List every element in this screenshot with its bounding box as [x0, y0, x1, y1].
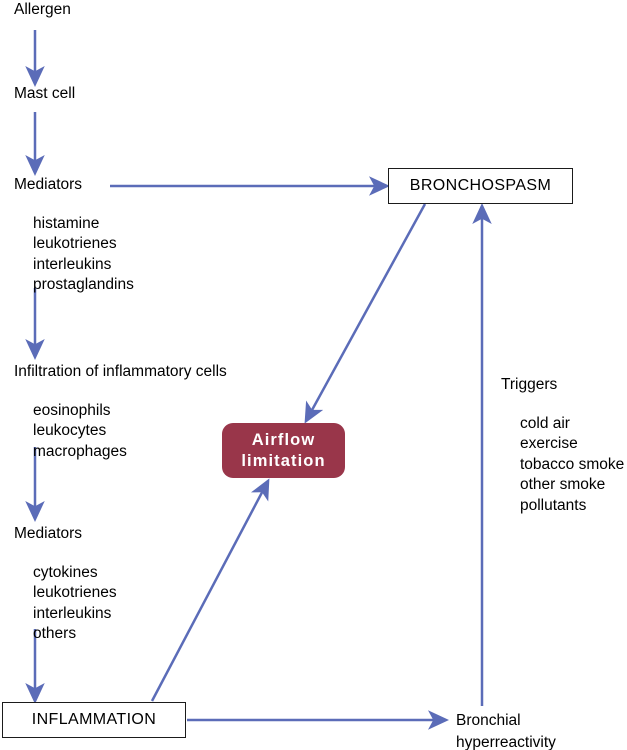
node-inflammation-label: INFLAMMATION — [32, 711, 157, 729]
node-mediators-early-label: Mediators — [14, 177, 134, 193]
node-triggers: Triggers cold air exercise tobacco smoke… — [501, 377, 624, 516]
node-triggers-label: Triggers — [501, 377, 624, 393]
list-item: histamine — [14, 214, 134, 235]
node-bronchial-hyperreactivity-label-line2: hyperreactivity — [456, 732, 556, 750]
list-item: eosinophils — [14, 401, 227, 422]
list-item: leukotrienes — [14, 583, 117, 604]
node-airflow-limitation-box: Airflow limitation — [222, 423, 345, 478]
list-item: macrophages — [14, 442, 227, 463]
node-bronchial-hyperreactivity-label-line1: Bronchial — [456, 710, 556, 732]
node-mediators-early-list: histamine leukotrienes interleukins pros… — [14, 214, 134, 296]
node-triggers-list: cold air exercise tobacco smoke other sm… — [501, 414, 624, 517]
asthma-pathophysiology-diagram: Allergen Mast cell Mediators histamine l… — [0, 0, 627, 750]
list-item: cytokines — [14, 563, 117, 584]
list-item: interleukins — [14, 604, 117, 625]
arrow-inflammation-to-airflow-limitation — [152, 481, 268, 701]
list-item: interleukins — [14, 255, 134, 276]
node-airflow-limitation-label-line1: Airflow — [252, 430, 316, 451]
node-allergen-label: Allergen — [14, 2, 71, 18]
list-item: tobacco smoke — [501, 455, 624, 476]
node-mast-cell-label: Mast cell — [14, 86, 75, 102]
node-infiltration: Infiltration of inflammatory cells eosin… — [14, 364, 227, 462]
list-item: other smoke — [501, 475, 624, 496]
node-allergen: Allergen — [14, 2, 71, 18]
node-airflow-limitation-label-line2: limitation — [241, 451, 325, 472]
list-item: others — [14, 624, 117, 645]
list-item: cold air — [501, 414, 624, 435]
node-mast-cell: Mast cell — [14, 86, 75, 102]
arrow-bronchospasm-to-airflow-limitation — [306, 204, 425, 421]
list-item: leukotrienes — [14, 234, 134, 255]
node-mediators-late: Mediators cytokines leukotrienes interle… — [14, 526, 117, 645]
node-infiltration-label: Infiltration of inflammatory cells — [14, 364, 227, 380]
node-bronchospasm-box: BRONCHOSPASM — [388, 168, 573, 204]
list-item: pollutants — [501, 496, 624, 517]
list-item: prostaglandins — [14, 275, 134, 296]
node-bronchospasm-label: BRONCHOSPASM — [410, 177, 551, 195]
node-inflammation-box: INFLAMMATION — [2, 702, 186, 738]
list-item: leukocytes — [14, 421, 227, 442]
node-mediators-early: Mediators histamine leukotrienes interle… — [14, 177, 134, 296]
node-bronchial-hyperreactivity: Bronchial hyperreactivity — [456, 710, 556, 750]
node-mediators-late-list: cytokines leukotrienes interleukins othe… — [14, 563, 117, 645]
list-item: exercise — [501, 434, 624, 455]
node-infiltration-list: eosinophils leukocytes macrophages — [14, 401, 227, 463]
node-mediators-late-label: Mediators — [14, 526, 117, 542]
